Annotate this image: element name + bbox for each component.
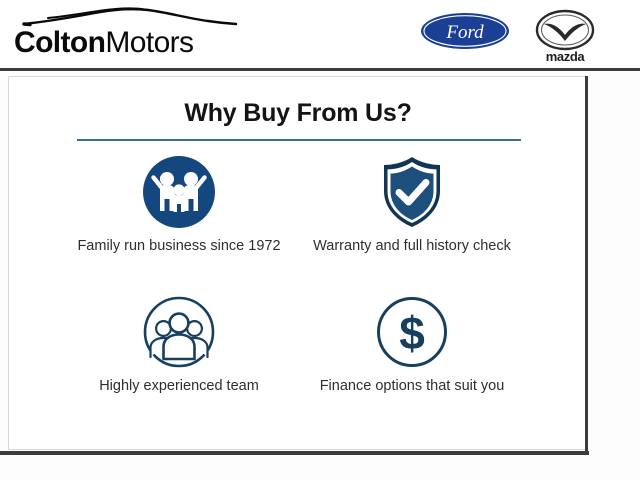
svg-text:mazda: mazda <box>546 49 586 64</box>
feature-grid: Family run business since 1972 Warranty … <box>9 155 587 440</box>
feature-icon-wrap <box>297 155 527 229</box>
feature-icon-wrap <box>64 155 294 229</box>
dealer-name-light: Motors <box>105 26 193 59</box>
feature-item: $ Finance options that suit you <box>297 295 527 396</box>
svg-text:$: $ <box>399 307 425 359</box>
family-icon <box>142 155 216 229</box>
page-title: Why Buy From Us? <box>9 99 587 128</box>
header-divider <box>0 68 640 71</box>
page-header: ColtonMotors Ford mazda <box>0 0 640 70</box>
feature-label: Warranty and full history check <box>297 237 527 256</box>
content-card: Why Buy From Us? <box>8 76 586 450</box>
feature-item: Family run business since 1972 <box>64 155 294 256</box>
feature-item: Highly experienced team <box>64 295 294 396</box>
mazda-logo-icon[interactable]: mazda <box>530 8 600 64</box>
feature-icon-wrap <box>64 295 294 369</box>
dealer-name: ColtonMotors <box>14 24 193 62</box>
feature-label: Family run business since 1972 <box>64 237 294 256</box>
dealer-name-bold: Colton <box>14 26 105 59</box>
slide-page: ColtonMotors Ford mazda Why Buy From Us? <box>0 0 640 480</box>
feature-label: Finance options that suit you <box>297 377 527 396</box>
feature-item: Warranty and full history check <box>297 155 527 256</box>
ford-logo-icon[interactable]: Ford <box>420 12 510 50</box>
svg-text:Ford: Ford <box>445 22 484 43</box>
dealer-logo[interactable]: ColtonMotors <box>14 6 249 64</box>
title-divider <box>77 139 521 141</box>
team-icon <box>142 295 216 369</box>
shield-check-icon <box>375 155 449 229</box>
footer-divider <box>0 451 589 455</box>
oem-logo-group: Ford mazda <box>415 4 615 66</box>
feature-label: Highly experienced team <box>64 377 294 396</box>
dollar-circle-icon: $ <box>375 295 449 369</box>
feature-icon-wrap: $ <box>297 295 527 369</box>
